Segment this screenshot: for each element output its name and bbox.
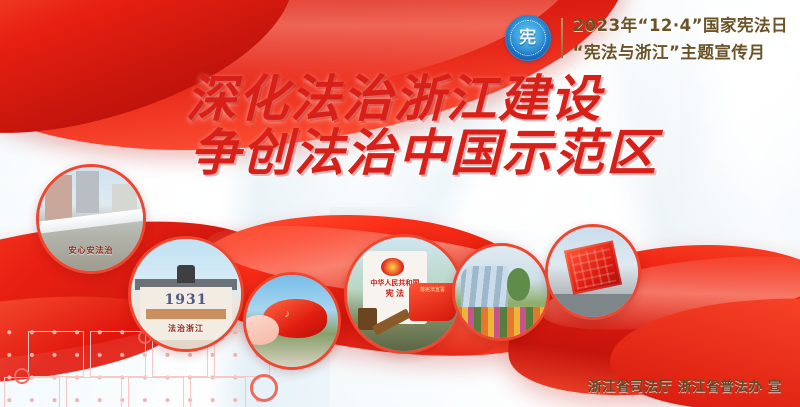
photo-civic-center-image (455, 246, 547, 338)
national-constitution-seal-icon: 宪 (505, 15, 551, 61)
decorative-ring-edge (14, 368, 30, 384)
photo-1931-monument: 1931 法治浙江 (128, 236, 244, 352)
national-emblem-icon (381, 258, 404, 276)
decorative-square (66, 377, 122, 407)
title-line-1: 深化法治浙江建设 (0, 72, 794, 126)
decorative-ring-large (250, 374, 278, 402)
photo-sculpture-image: ♪ (246, 275, 338, 367)
photo-red-cube-sculpture (545, 224, 641, 320)
decorative-square (128, 377, 184, 407)
photo-village-caption: 安心安法治 (39, 245, 143, 256)
page-title: 深化法治浙江建设 争创法治中国示范区 (0, 72, 800, 180)
seal-glyph: 宪 (519, 29, 536, 46)
poster-canvas: 宪 2023年“12·4”国家宪法日 “宪法与浙江”主题宣传月 深化法治浙江建设… (0, 0, 800, 407)
music-note-icon: ♪ (285, 308, 291, 320)
photo-constitution-monument: 中华人民共和国 宪 法 尊宪法宣誓 (344, 234, 464, 354)
photo-red-ribbon-sculpture: ♪ (243, 272, 341, 370)
header-line-2: “宪法与浙江”主题宣传月 (573, 39, 788, 63)
footer-credit: 浙江省司法厅 浙江省普法办 宣 (588, 375, 782, 395)
header-text-block: 2023年“12·4”国家宪法日 “宪法与浙江”主题宣传月 (573, 12, 788, 63)
header-divider (561, 18, 563, 58)
photo-cube-image (548, 227, 638, 317)
photo-monument-caption: 法治浙江 (131, 323, 241, 334)
header-line-1: 2023年“12·4”国家宪法日 (573, 12, 788, 36)
red-ribbon-top-fold (0, 0, 316, 165)
header-banner: 宪 2023年“12·4”国家宪法日 “宪法与浙江”主题宣传月 (505, 12, 788, 63)
monument-year: 1931 (131, 292, 241, 308)
photo-civic-center-flowers (452, 243, 550, 341)
decorative-square (4, 377, 60, 407)
decorative-square (190, 377, 246, 407)
decorative-square (28, 331, 84, 377)
red-ribbon-top-highlight (0, 0, 587, 122)
constitution-flag-text: 尊宪法宣誓 (413, 286, 452, 293)
photo-village-rule-of-law: 安心安法治 (36, 164, 146, 274)
photo-constitution-image: 中华人民共和国 宪 法 尊宪法宣誓 (347, 237, 461, 351)
